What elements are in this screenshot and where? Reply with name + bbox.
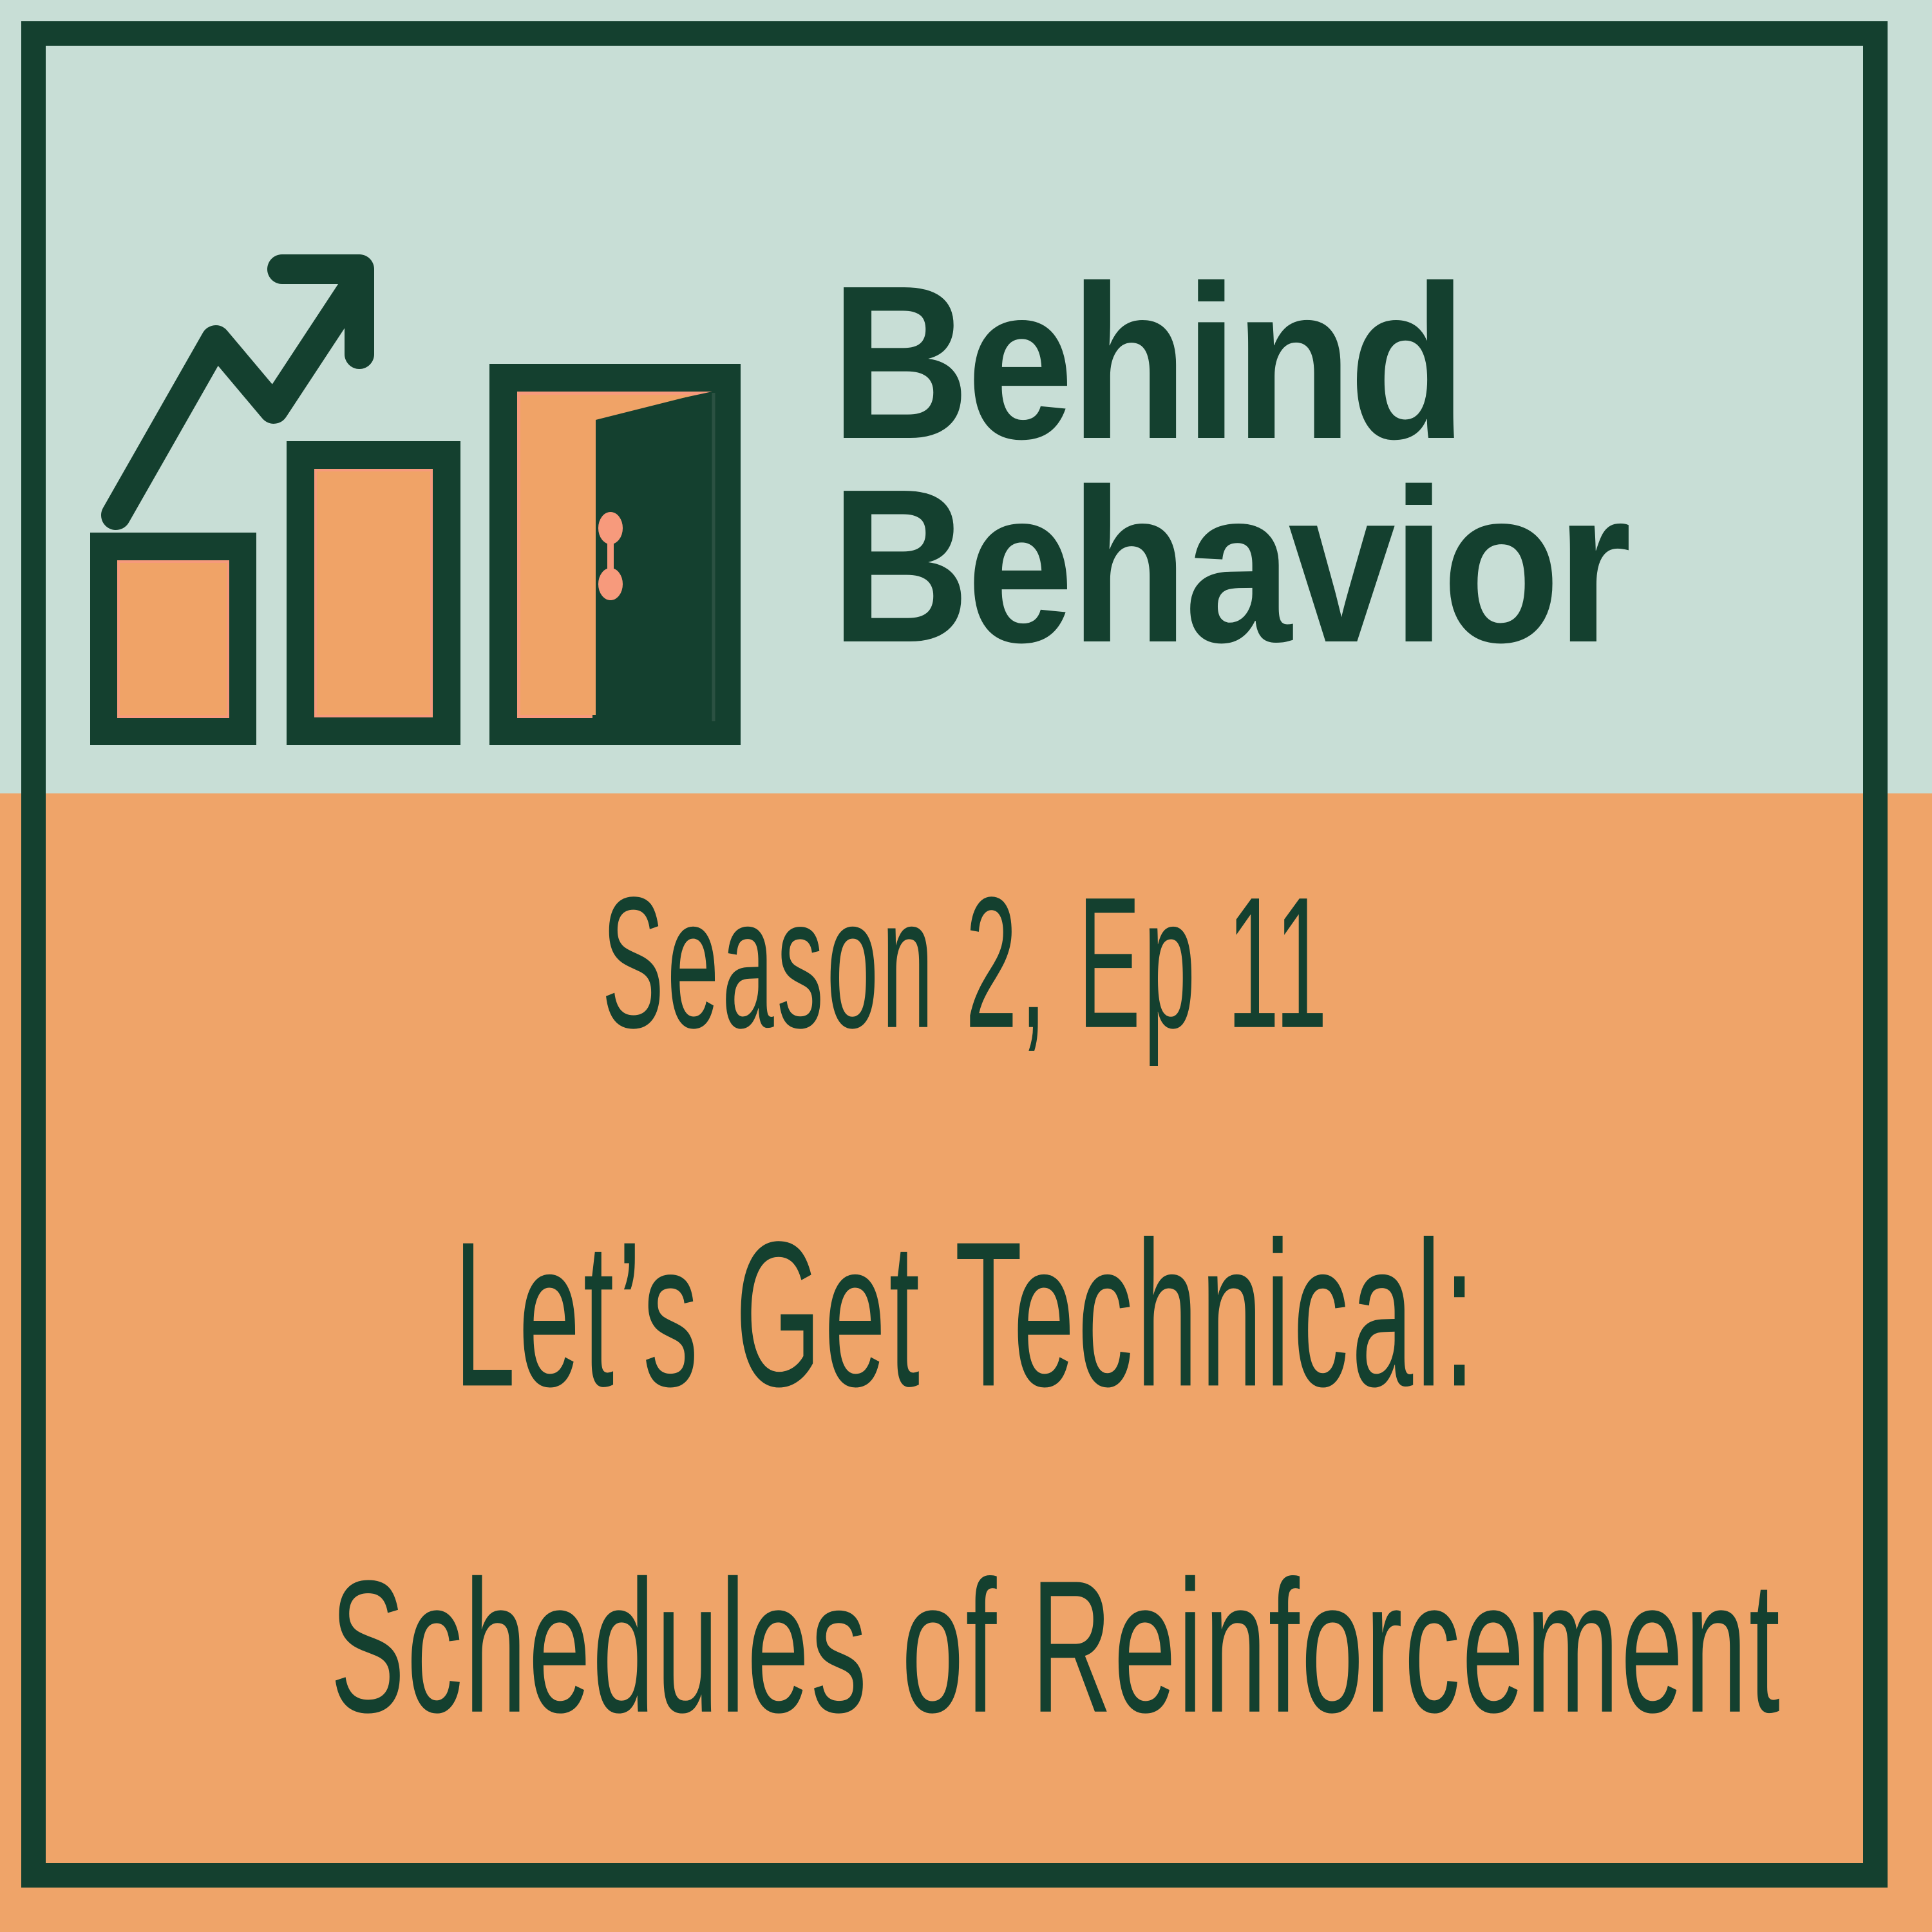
podcast-title-line-1: Behind <box>831 261 1726 464</box>
episode-title-line-1: Let’s Get Technical: <box>394 1211 1539 1417</box>
episode-title-line-2: Schedules of Reinforcement <box>330 1552 1602 1741</box>
podcast-title-line-2: Behavior <box>831 464 1726 668</box>
episode-info: Season 2, Ep 11 Let’s Get Technical: Sch… <box>58 831 1874 1861</box>
episode-season-number: Season 2, Ep 11 <box>439 869 1493 1056</box>
bar-tall-icon <box>287 441 460 745</box>
growth-chart-with-open-door-logo <box>77 245 824 760</box>
podcast-title: Behind Behavior <box>831 261 1848 668</box>
open-door-icon <box>489 364 741 745</box>
bar-short-icon <box>90 533 256 745</box>
podcast-cover-art: Behind Behavior Season 2, Ep 11 Let’s Ge… <box>0 0 1932 1932</box>
